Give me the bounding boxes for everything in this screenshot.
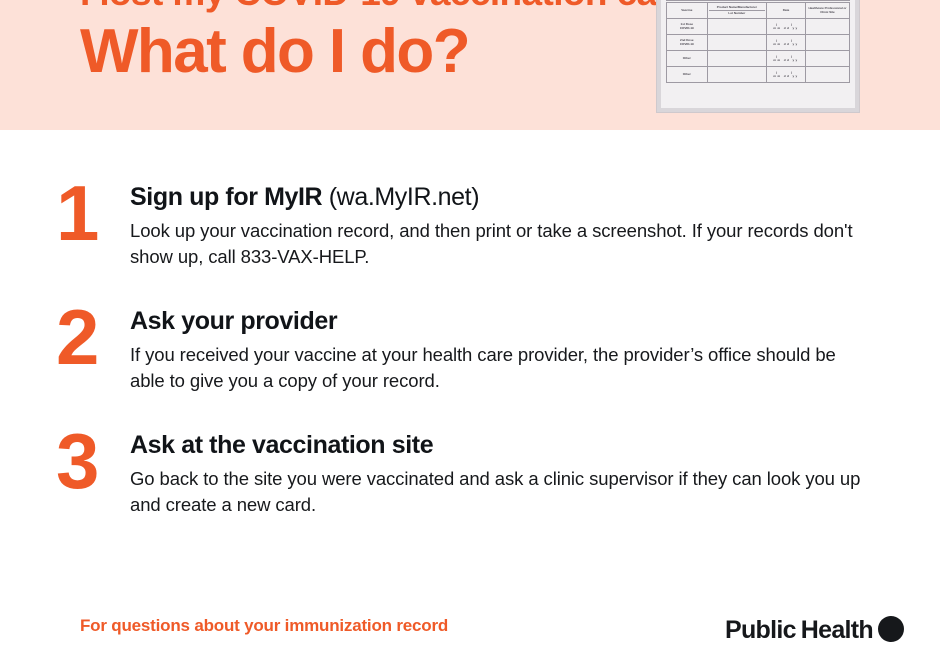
step-title: Ask at the vaccination site: [130, 432, 884, 460]
card-table-body: 1st Dose COVID-19 / / mm dd yy: [667, 19, 850, 83]
card-cell-date: / / mm dd yy: [767, 35, 806, 51]
card-table-row: 1st Dose COVID-19 / / mm dd yy: [667, 19, 850, 35]
step-description: Look up your vaccination record, and the…: [130, 218, 870, 271]
poster-root: I lost my COVID-19 vaccination card. Wha…: [0, 0, 940, 640]
step-item: 1 Sign up for MyIR (wa.MyIR.net) Look up…: [0, 172, 940, 270]
card-cell-clinic: [805, 51, 849, 67]
footer: For questions about your immunization re…: [0, 610, 940, 650]
step-title: Sign up for MyIR (wa.MyIR.net): [130, 184, 884, 212]
card-table-row: 2nd Dose COVID-19 / / mm dd yy: [667, 35, 850, 51]
page-title: What do I do?: [80, 19, 640, 84]
step-number: 1: [56, 172, 118, 250]
step-number: 3: [56, 420, 118, 498]
card-row-label-line1: Other: [668, 57, 706, 61]
card-date-hint: mm dd yy: [768, 43, 804, 47]
logo-word-health: Health: [801, 616, 873, 645]
header-text-block: I lost my COVID-19 vaccination card. Wha…: [80, 0, 640, 84]
step-description: Go back to the site you were vaccinated …: [130, 466, 870, 519]
steps-list: 1 Sign up for MyIR (wa.MyIR.net) Look up…: [0, 172, 940, 544]
step-title-bold: Ask at the vaccination site: [130, 431, 433, 459]
step-item: 2 Ask your provider If you received your…: [0, 296, 940, 394]
card-table-row: Other / / mm dd yy: [667, 51, 850, 67]
header-kicker: I lost my COVID-19 vaccination card.: [80, 0, 640, 15]
step-item: 3 Ask at the vaccination site Go back to…: [0, 420, 940, 518]
step-body: Ask at the vaccination site Go back to t…: [118, 420, 884, 518]
card-table: Vaccine Product Name/Manufacturer Lot Nu…: [666, 2, 850, 83]
card-col-product: Product Name/Manufacturer Lot Number: [707, 3, 766, 19]
public-health-logo: Public Health: [725, 612, 904, 645]
step-body: Ask your provider If you received your v…: [118, 296, 884, 394]
card-col-vaccine: Vaccine: [667, 3, 708, 19]
card-table-header-row: Vaccine Product Name/Manufacturer Lot Nu…: [667, 3, 850, 19]
step-body: Sign up for MyIR (wa.MyIR.net) Look up y…: [118, 172, 884, 270]
card-table-head: Vaccine Product Name/Manufacturer Lot Nu…: [667, 3, 850, 19]
card-row-label: 2nd Dose COVID-19: [667, 35, 708, 51]
card-cell-clinic: [805, 19, 849, 35]
card-col-clinic: Healthcare Professional or Clinic Site: [805, 3, 849, 19]
card-row-label-line2: COVID-19: [668, 27, 706, 31]
step-title: Ask your provider: [130, 308, 884, 336]
card-cell-product: [707, 35, 766, 51]
card-col-product-line2: Lot Number: [709, 10, 765, 16]
card-cell-product: [707, 67, 766, 83]
logo-circle-mark: [878, 616, 904, 642]
step-title-light: (wa.MyIR.net): [322, 183, 479, 211]
card-date-hint: mm dd yy: [768, 59, 804, 63]
step-title-bold: Sign up for MyIR: [130, 183, 322, 211]
step-description: If you received your vaccine at your hea…: [130, 342, 870, 395]
card-cell-product: [707, 19, 766, 35]
card-cell-date: / / mm dd yy: [767, 19, 806, 35]
card-col-date: Date: [767, 3, 806, 19]
card-row-label: Other: [667, 67, 708, 83]
vaccination-card-image: médica sobre las vacunas que ha recibido…: [656, 0, 860, 113]
card-row-label: Other: [667, 51, 708, 67]
card-dob-row: Date of birth Patient number (medical re…: [666, 0, 850, 1]
footer-questions-note: For questions about your immunization re…: [80, 616, 448, 636]
card-cell-date: / / mm dd yy: [767, 67, 806, 83]
step-number: 2: [56, 296, 118, 374]
card-row-label: 1st Dose COVID-19: [667, 19, 708, 35]
card-cell-clinic: [805, 35, 849, 51]
card-cell-clinic: [805, 67, 849, 83]
card-cell-date: / / mm dd yy: [767, 51, 806, 67]
vaccination-card-inner: médica sobre las vacunas que ha recibido…: [661, 0, 855, 108]
logo-word-public: Public: [725, 616, 796, 645]
card-col-product-line1: Product Name/Manufacturer: [709, 6, 765, 10]
card-table-row: Other / / mm dd yy: [667, 67, 850, 83]
card-date-hint: mm dd yy: [768, 27, 804, 31]
card-row-label-line2: COVID-19: [668, 43, 706, 47]
step-title-bold: Ask your provider: [130, 307, 337, 335]
card-date-hint: mm dd yy: [768, 75, 804, 79]
card-row-label-line1: Other: [668, 73, 706, 77]
header-band: I lost my COVID-19 vaccination card. Wha…: [0, 0, 940, 130]
card-cell-product: [707, 51, 766, 67]
